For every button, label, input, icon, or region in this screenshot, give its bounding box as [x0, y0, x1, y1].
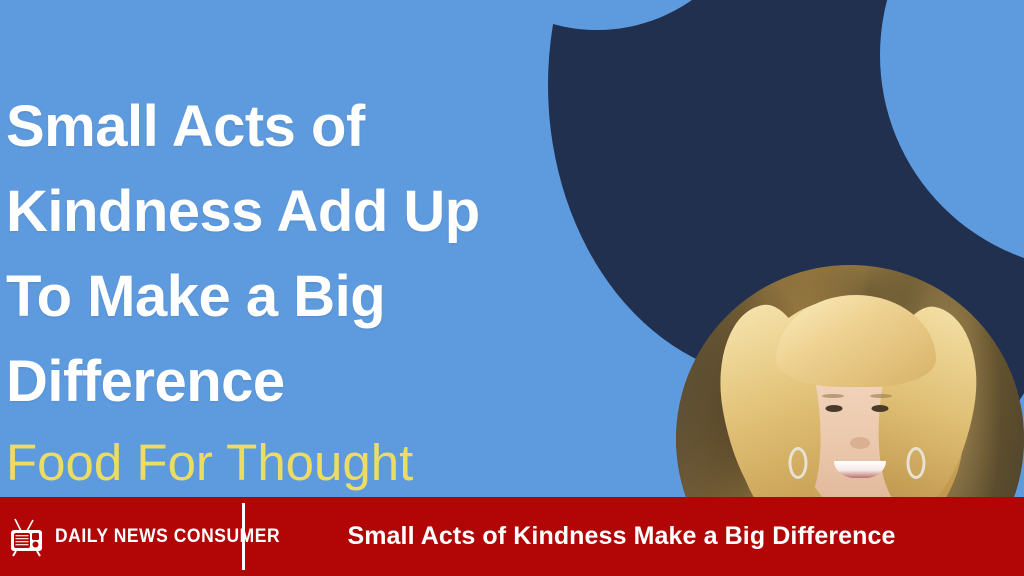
brand-lockup[interactable]: DAILY NEWS CONSUMER — [0, 497, 245, 576]
brand-divider — [242, 503, 245, 570]
news-thumbnail-canvas: Small Acts of Kindness Add Up To Make a … — [0, 0, 1024, 576]
hero-headline: Small Acts of Kindness Add Up To Make a … — [6, 84, 566, 424]
nose — [850, 437, 870, 449]
earring-right — [907, 447, 926, 479]
eyebrow-right — [870, 394, 892, 398]
earring-left — [789, 447, 808, 479]
eyebrow-left — [822, 394, 844, 398]
hero-subtitle: Food For Thought — [6, 424, 566, 494]
bottom-banner: DAILY NEWS CONSUMER Small Acts of Kindne… — [0, 497, 1024, 576]
eye-left — [826, 405, 843, 412]
banner-headline-strip: Small Acts of Kindness Make a Big Differ… — [245, 497, 1024, 576]
brand-name: DAILY NEWS CONSUMER — [55, 526, 280, 548]
headline-block: Small Acts of Kindness Add Up To Make a … — [6, 84, 566, 497]
hero-area: Small Acts of Kindness Add Up To Make a … — [0, 0, 1024, 497]
retro-tv-icon — [8, 515, 48, 559]
eye-right — [872, 405, 889, 412]
banner-headline: Small Acts of Kindness Make a Big Differ… — [347, 522, 895, 551]
avatar — [676, 265, 1024, 497]
